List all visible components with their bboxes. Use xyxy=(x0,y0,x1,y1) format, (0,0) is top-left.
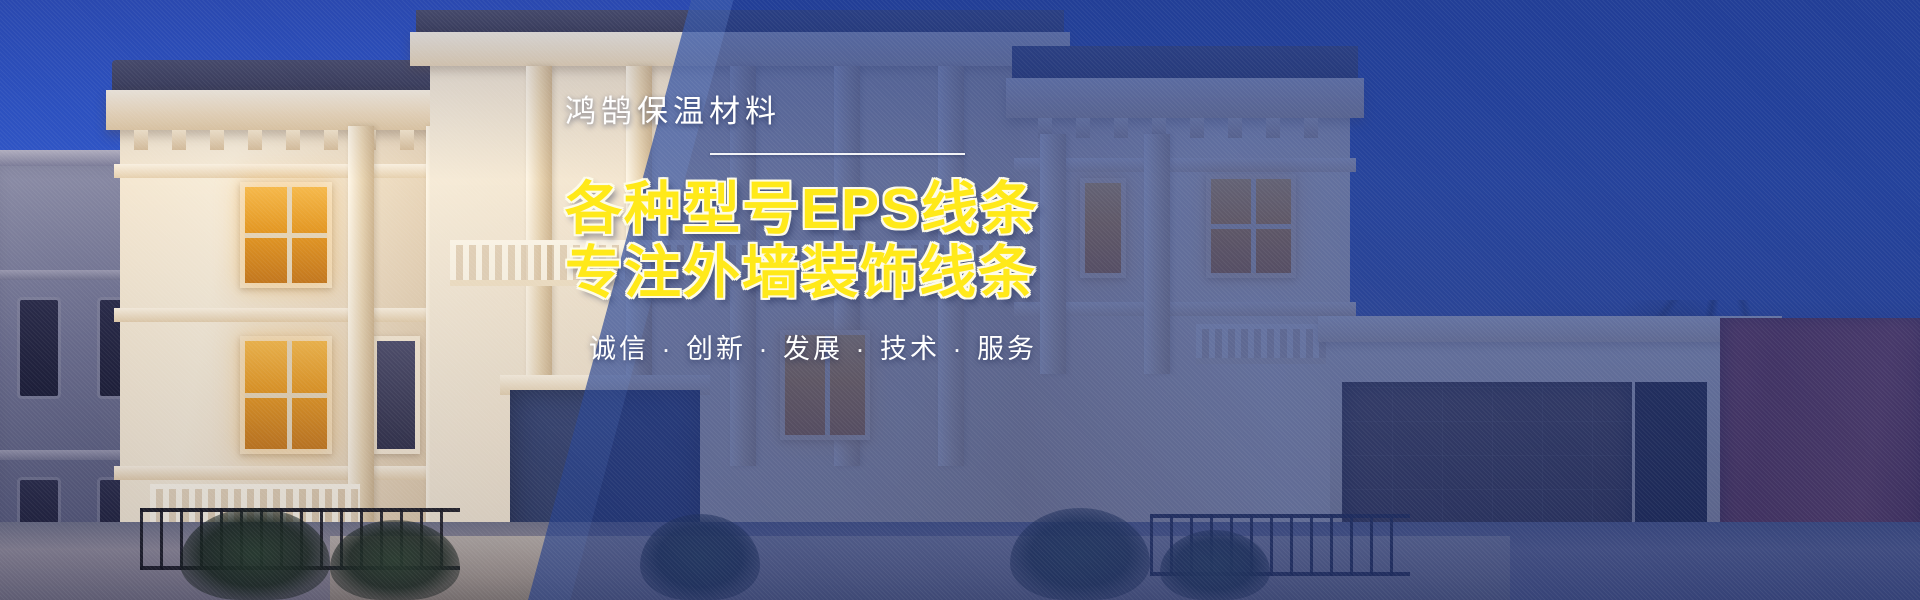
tagline-separator: · xyxy=(746,334,783,364)
tagline-item: 服务 xyxy=(977,334,1037,364)
tagline-item: 技术 xyxy=(880,334,940,364)
headline-line-2: 专注外墙装饰线条 xyxy=(565,241,1325,305)
tagline-separator: · xyxy=(940,334,977,364)
divider-rule xyxy=(710,153,965,155)
hero-banner[interactable]: 鸿鹄保温材料 各种型号EPS线条 专注外墙装饰线条 诚信 · 创新 · 发展 ·… xyxy=(0,0,1920,600)
tagline-separator: · xyxy=(843,334,880,364)
tagline-separator: · xyxy=(649,334,686,364)
headline: 各种型号EPS线条 专注外墙装饰线条 xyxy=(565,177,1325,306)
banner-copy: 鸿鹄保温材料 各种型号EPS线条 专注外墙装饰线条 诚信 · 创新 · 发展 ·… xyxy=(565,96,1325,363)
tagline: 诚信 · 创新 · 发展 · 技术 · 服务 xyxy=(565,336,1325,363)
brand-eyebrow: 鸿鹄保温材料 xyxy=(565,96,1325,127)
tagline-item: 创新 xyxy=(686,334,746,364)
tagline-item: 发展 xyxy=(783,334,843,364)
tagline-item: 诚信 xyxy=(589,334,649,364)
headline-line-1: 各种型号EPS线条 xyxy=(565,177,1039,241)
